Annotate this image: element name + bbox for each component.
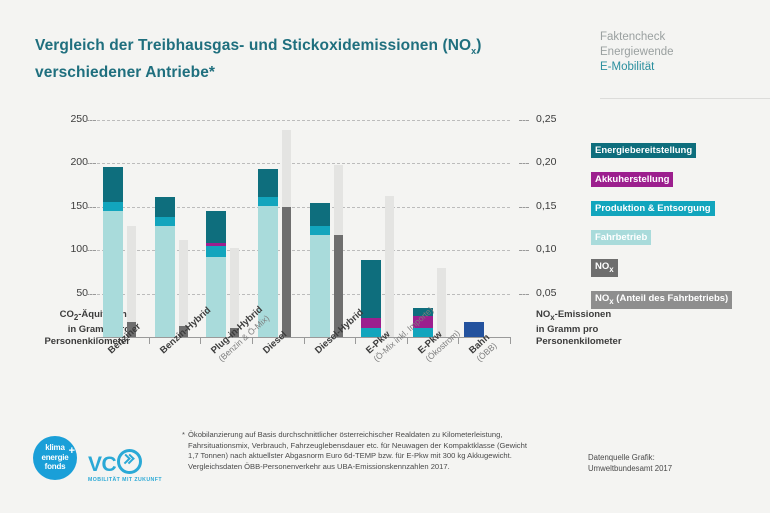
vco-logo: VC MOBILITÄT MIT ZUKUNFT: [88, 446, 180, 483]
legend-item[interactable]: NOx (Anteil des Fahrbetriebs): [591, 288, 769, 320]
y-tick-mark-right: [519, 120, 529, 121]
nox-bar: [282, 120, 291, 337]
page-title: Vergleich der Treibhausgas- und Stickoxi…: [35, 35, 555, 84]
y-axis-title-right-line3: Personenkilometer: [536, 336, 656, 348]
co2-bar-segment: [103, 211, 123, 337]
y-tick-label-right: 0,05: [536, 287, 586, 299]
y-tick-mark-left: [86, 163, 96, 164]
legend-item-label: Energiebereitstellung: [591, 143, 696, 158]
co2-bar-segment: [361, 260, 381, 318]
y-tick-label-left: 150: [42, 200, 88, 212]
legend-item-label: NOx: [591, 259, 618, 277]
legend-item[interactable]: NOx: [591, 256, 769, 288]
co2-bar: [103, 120, 123, 337]
legend-item[interactable]: Fahrbetrieb: [591, 227, 769, 256]
y-tick-label-right: 0,20: [536, 156, 586, 168]
x-tick-mark: [149, 337, 150, 344]
vco-logo-text: VC: [88, 446, 180, 476]
chart-plot-area: [97, 120, 510, 337]
data-source-line1: Datenquelle Grafik:: [588, 452, 763, 463]
y-tick-label-right: 0,10: [536, 243, 586, 255]
klimafonds-logo: klima energie fonds +: [33, 436, 77, 480]
page-title-line1-end: ): [476, 37, 481, 54]
vco-logo-circle-icon: [117, 449, 142, 474]
y-tick-label-right: 0,25: [536, 113, 586, 125]
nox-bar: [334, 120, 343, 337]
nox-bar: [127, 120, 136, 337]
infographic-canvas: Vergleich der Treibhausgas- und Stickoxi…: [0, 0, 770, 513]
co2-bar-segment: [206, 243, 226, 246]
co2-bar-segment: [206, 211, 226, 243]
klimafonds-logo-line3: fonds: [45, 462, 66, 471]
chart-legend: EnergiebereitstellungAkkuherstellungProd…: [591, 140, 769, 320]
y-tick-mark-left: [86, 294, 96, 295]
co2-bar-segment: [206, 246, 226, 257]
co2-bar: [206, 120, 226, 337]
co2-bar: [361, 120, 381, 337]
data-source: Datenquelle Grafik: Umweltbundesamt 2017: [588, 452, 763, 474]
y-tick-mark-left: [86, 120, 96, 121]
klimafonds-logo-line2: energie: [41, 453, 68, 462]
x-tick-mark: [304, 337, 305, 344]
y-tick-mark-right: [519, 207, 529, 208]
footnote-marker: *: [182, 430, 185, 439]
y-tick-label-right: 0,15: [536, 200, 586, 212]
y-tick-mark-right: [519, 294, 529, 295]
vco-logo-letters: VC: [88, 453, 116, 476]
co2-bar-segment: [310, 203, 330, 226]
page-title-line1: Vergleich der Treibhausgas- und Stickoxi…: [35, 37, 471, 54]
co2-bar-segment: [155, 217, 175, 226]
page-title-line2: verschiedener Antriebe*: [35, 64, 215, 81]
co2-bar-segment: [103, 202, 123, 211]
brand-line-3: E-Mobilität: [600, 60, 750, 75]
co2-bar-segment: [258, 169, 278, 198]
y-tick-label-left: 250: [42, 113, 88, 125]
nox-bar: [179, 120, 188, 337]
co2-bar-segment: [258, 197, 278, 206]
legend-item-label: Produktion & Entsorgung: [591, 201, 715, 216]
y-tick-label-left: 200: [42, 156, 88, 168]
x-tick-mark: [510, 337, 511, 344]
footnote-text: Ökobilanzierung auf Basis durchschnittli…: [188, 430, 533, 472]
nox-bar: [230, 120, 239, 337]
legend-item-label: NOx (Anteil des Fahrbetriebs): [591, 291, 732, 309]
co2-bar-segment: [310, 235, 330, 337]
co2-bar-segment: [155, 197, 175, 217]
y-tick-mark-left: [86, 207, 96, 208]
y-tick-mark-right: [519, 250, 529, 251]
co2-bar: [258, 120, 278, 337]
co2-bar-segment: [103, 167, 123, 203]
co2-bar-segment: [206, 257, 226, 337]
nox-bar-driving-segment: [282, 207, 291, 337]
x-tick-mark: [97, 337, 98, 344]
legend-item-label: Akkuherstellung: [591, 172, 673, 187]
legend-item[interactable]: Akkuherstellung: [591, 169, 769, 198]
x-tick-mark: [200, 337, 201, 344]
brand-block: Faktencheck Energiewende E-Mobilität: [600, 30, 750, 75]
nox-bar: [437, 120, 446, 337]
brand-line-1: Faktencheck: [600, 30, 750, 45]
co2-bar-segment: [361, 318, 381, 328]
legend-item-label: Fahrbetrieb: [591, 230, 651, 245]
y-tick-mark-right: [519, 163, 529, 164]
nox-bar: [385, 120, 394, 337]
co2-bar-segment: [155, 226, 175, 337]
vco-logo-tagline: MOBILITÄT MIT ZUKUNFT: [88, 477, 180, 483]
brand-line-2: Energiewende: [600, 45, 750, 60]
legend-item[interactable]: Energiebereitstellung: [591, 140, 769, 169]
y-tick-mark-left: [86, 250, 96, 251]
header-divider: [600, 98, 770, 99]
x-tick-mark: [355, 337, 356, 344]
y-tick-label-left: 100: [42, 243, 88, 255]
y-tick-label-left: 50: [42, 287, 88, 299]
data-source-line2: Umweltbundesamt 2017: [588, 463, 763, 474]
co2-bar-segment: [310, 226, 330, 236]
co2-bar: [155, 120, 175, 337]
klimafonds-logo-plus: +: [69, 445, 75, 457]
co2-bar: [464, 120, 484, 337]
nox-bar-total-segment: [385, 196, 394, 337]
klimafonds-logo-line1: klima: [45, 443, 64, 452]
co2-bar: [310, 120, 330, 337]
y-axis-title-right-line2: in Gramm pro: [536, 324, 656, 336]
legend-item[interactable]: Produktion & Entsorgung: [591, 198, 769, 227]
